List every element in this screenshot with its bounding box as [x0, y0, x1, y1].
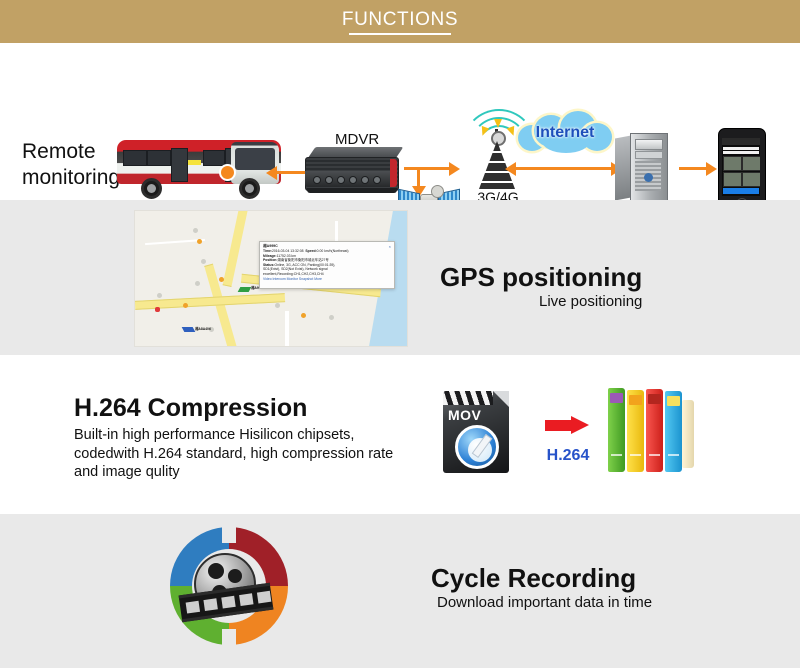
mov-file-icon: MOV: [443, 391, 509, 473]
map-poi: [157, 293, 162, 298]
map-poi: [183, 303, 188, 308]
map-poi-hospital: [155, 307, 160, 312]
arrow-server-to-phone: [679, 167, 707, 170]
popup-speed-label: Speed:: [305, 249, 316, 253]
mdvr-device-icon: [305, 147, 401, 195]
arrow-server-to-network-head: [505, 162, 516, 176]
popup-close-icon[interactable]: ×: [389, 244, 391, 249]
popup-time-label: Time:: [263, 249, 272, 253]
remote-monitoring-section: Remote monitoring MDVR: [0, 43, 800, 200]
bus-icon: [113, 136, 285, 198]
map-poi: [193, 228, 198, 233]
h264-codec-label: H.264: [540, 447, 596, 465]
popup-time-value: 2016-03-04 13:32:08: [272, 249, 303, 253]
popup-mileage-value: 11752.03 km: [277, 254, 296, 258]
server-icon: [615, 131, 669, 203]
gps-map-screenshot[interactable]: 湘A999C 湘A8A406 × 湘A999C Time:2016-03-04 …: [134, 210, 408, 347]
map-vehicle-marker-1[interactable]: [238, 287, 252, 292]
conversion-arrow-icon: [545, 416, 589, 434]
map-poi: [275, 303, 280, 308]
mdvr-label: MDVR: [335, 131, 379, 148]
map-poi: [219, 277, 224, 282]
map-poi: [329, 315, 334, 320]
popup-action-links[interactable]: Video Intercom Monitor Snapshot More: [263, 277, 391, 282]
cycle-section-title: Cycle Recording: [431, 563, 636, 594]
compressed-archive-icon: [608, 388, 694, 476]
popup-position-label: Position:: [263, 258, 278, 262]
gps-section-subtitle: Live positioning: [539, 293, 642, 310]
map-vehicle-marker-2[interactable]: [182, 327, 196, 332]
cycle-gap-bottom: [222, 629, 236, 645]
map-poi: [195, 281, 200, 286]
map-vehicle-tag-2: 湘A8A406: [195, 326, 211, 331]
popup-position-value: 湖南省衡阳市衡阳市城北车站27号: [278, 258, 329, 262]
internet-label: Internet: [516, 124, 614, 142]
page-title: FUNCTIONS: [0, 9, 800, 31]
quicktime-glyph-icon: [455, 425, 499, 469]
arrow-mdvr-to-bus-head: [266, 166, 277, 180]
arrow-mdvr-to-network: [404, 167, 450, 170]
map-road-thin-2: [285, 311, 289, 346]
arrow-network-to-server: [516, 167, 612, 170]
popup-mileage-label: Mileage:: [263, 254, 277, 258]
map-road-thin-1: [145, 239, 205, 245]
map-poi: [201, 259, 206, 264]
h264-section-title: H.264 Compression: [74, 394, 307, 423]
cycle-recording-icon: [170, 527, 288, 645]
cycle-section-subtitle: Download important data in time: [437, 594, 652, 611]
popup-status-value: Online, 3G, ACC ON, Parking(00:01:39),: [275, 263, 336, 267]
arrow-server-to-phone-head: [706, 162, 717, 176]
mobile-phone-icon: [718, 128, 766, 210]
map-poi: [301, 313, 306, 318]
mov-file-label: MOV: [448, 407, 481, 423]
arrow-mdvr-to-bus: [277, 171, 305, 174]
gps-section-title: GPS positioning: [440, 262, 642, 293]
h264-section-description: Built-in high performance Hisilicon chip…: [74, 426, 419, 482]
bus-camera-marker: [219, 164, 236, 181]
popup-speed-value: 0.00 km/h(Northeast): [317, 249, 349, 253]
cycle-recording-section: [0, 514, 800, 668]
arrow-mdvr-to-network-head: [449, 162, 460, 176]
popup-status-label: Status:: [263, 263, 275, 267]
cycle-gap-top: [222, 527, 236, 543]
map-poi: [197, 239, 202, 244]
page-title-underline: [349, 33, 451, 35]
map-info-popup[interactable]: × 湘A999C Time:2016-03-04 13:32:08 Speed:…: [259, 241, 395, 289]
